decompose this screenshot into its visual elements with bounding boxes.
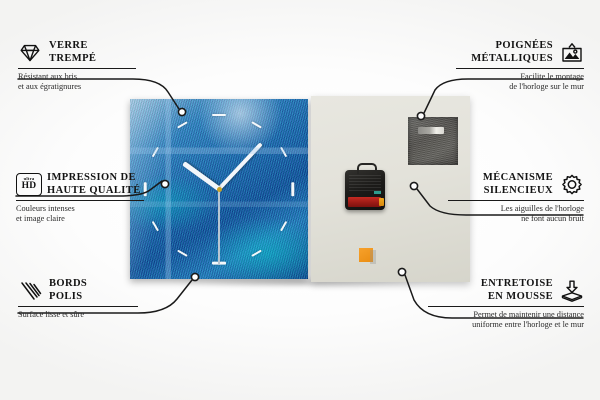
clock-tick [279, 221, 286, 232]
callout-rule [18, 68, 136, 69]
clock-second-hand [218, 189, 219, 265]
callout-bords-polis[interactable]: BORDS POLIS Surface lisse et sûre [18, 278, 138, 320]
clock-tick [279, 147, 286, 158]
hanger-slot [418, 127, 444, 134]
diamond-icon [18, 41, 42, 65]
infographic-canvas: VERRE TREMPÉ Résistant aux bris et aux é… [0, 0, 600, 400]
clock-center-hub [217, 187, 222, 192]
clock-tick [144, 182, 147, 196]
clock-minute-hand [218, 142, 263, 190]
mechanism-label [349, 175, 381, 192]
clock-tick [151, 147, 158, 158]
callout-description: Couleurs intenses et image claire [16, 204, 144, 224]
callout-entretoise-en-mousse[interactable]: ENTRETOISE EN MOUSSE Permet de maintenir… [428, 278, 584, 330]
clock-dial [130, 99, 308, 279]
foam-spacer [359, 248, 373, 262]
polished-edges-icon [18, 279, 42, 303]
clock-hour-hand [182, 161, 220, 191]
callout-verre-trempe[interactable]: VERRE TREMPÉ Résistant aux bris et aux é… [18, 40, 136, 92]
clock-back-panel [311, 96, 470, 282]
callout-description: Les aiguilles de l'horloge ne font aucun… [448, 204, 584, 224]
foam-spacer-icon [560, 279, 584, 303]
callout-impression-haute-qualite[interactable]: ultra HD IMPRESSION DE HAUTE QUALITÉ Cou… [16, 172, 144, 224]
callout-header: VERRE TREMPÉ [18, 40, 136, 65]
callout-rule [448, 200, 584, 201]
callout-header: BORDS POLIS [18, 278, 138, 303]
callout-title: ENTRETOISE EN MOUSSE [481, 278, 553, 303]
clock-tick [212, 262, 226, 265]
clock-tick [292, 182, 295, 196]
callout-poignees-metalliques[interactable]: POIGNÉES MÉTALLIQUES Facilite le montage… [456, 40, 584, 92]
product-photo [130, 96, 470, 282]
clock-tick [251, 121, 262, 128]
ultra-hd-large-text: HD [22, 182, 37, 192]
callout-title: IMPRESSION DE HAUTE QUALITÉ [47, 172, 141, 197]
mechanism-marking [374, 191, 381, 194]
mechanism-hanging-loop [357, 163, 377, 174]
callout-header: ENTRETOISE EN MOUSSE [428, 278, 584, 303]
clock-tick [151, 221, 158, 232]
clock-mechanism [345, 170, 385, 210]
hanger-plate [408, 117, 458, 165]
callout-header: ultra HD IMPRESSION DE HAUTE QUALITÉ [16, 172, 144, 197]
gear-icon [560, 173, 584, 197]
callout-description: Permet de maintenir une distance uniform… [428, 310, 584, 330]
callout-description: Résistant aux bris et aux égratignures [18, 72, 136, 92]
clock-tick [177, 121, 188, 128]
callout-title: MÉCANISME SILENCIEUX [483, 172, 553, 197]
picture-hanger-icon [560, 41, 584, 65]
callout-description: Facilite le montage de l'horloge sur le … [456, 72, 584, 92]
callout-rule [18, 306, 138, 307]
callout-mecanisme-silencieux[interactable]: MÉCANISME SILENCIEUX Les aiguilles de l'… [448, 172, 584, 224]
clock-tick [177, 249, 188, 256]
callout-title: BORDS POLIS [49, 278, 87, 303]
ultra-hd-icon: ultra HD [16, 173, 40, 197]
clock-tick [212, 114, 226, 117]
battery [348, 197, 381, 207]
callout-rule [428, 306, 584, 307]
callout-title: VERRE TREMPÉ [49, 40, 96, 65]
callout-rule [456, 68, 584, 69]
callout-description: Surface lisse et sûre [18, 310, 138, 320]
clock-front-panel [130, 99, 308, 279]
callout-header: POIGNÉES MÉTALLIQUES [456, 40, 584, 65]
clock-tick [251, 249, 262, 256]
callout-title: POIGNÉES MÉTALLIQUES [471, 40, 553, 65]
callout-header: MÉCANISME SILENCIEUX [448, 172, 584, 197]
callout-rule [16, 200, 144, 201]
